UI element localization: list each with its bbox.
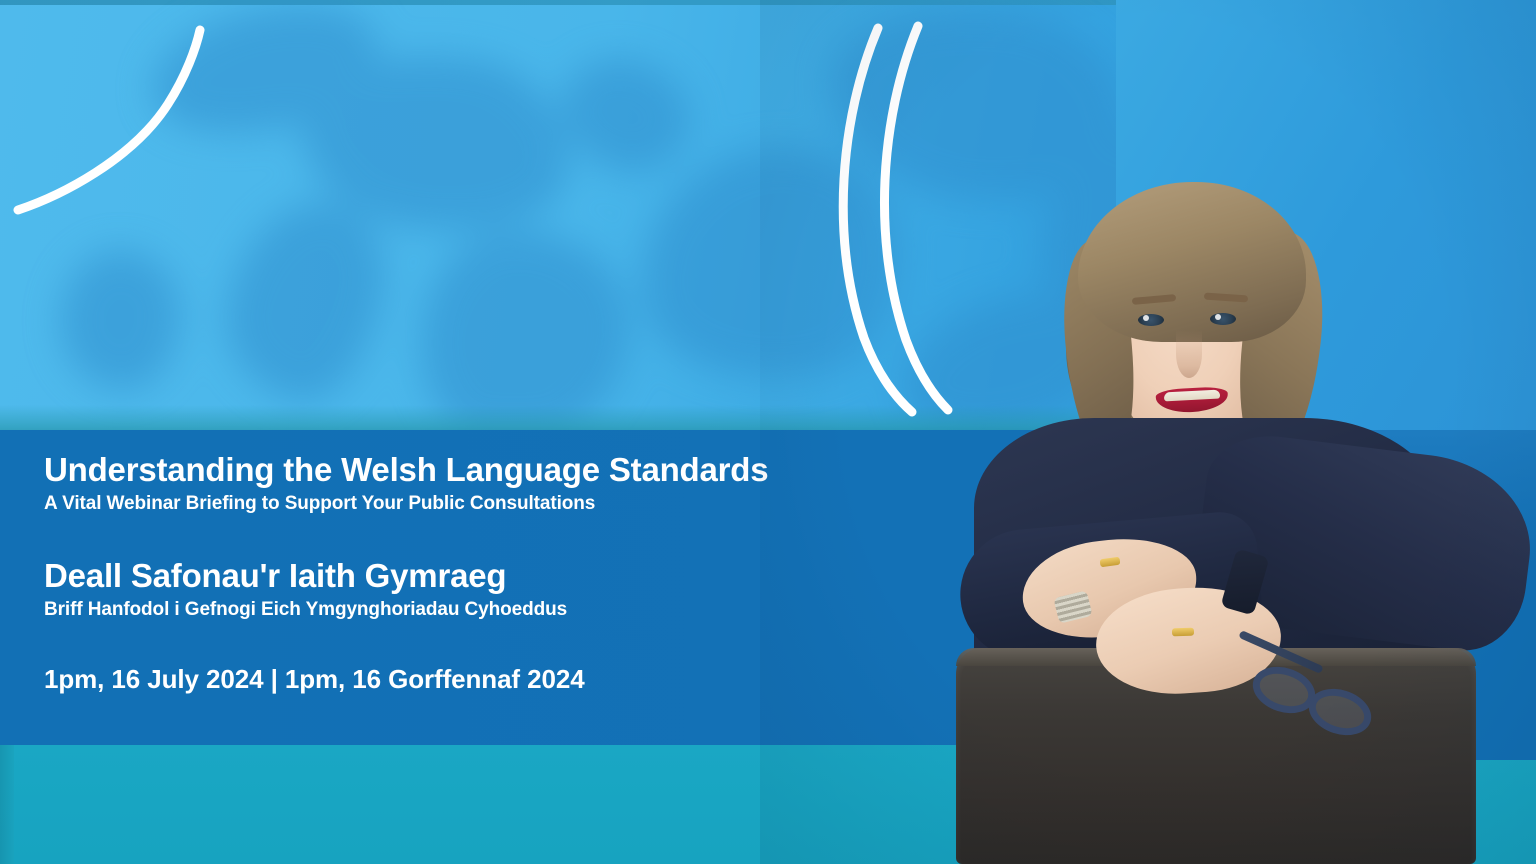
eye-right (1210, 313, 1236, 325)
floor-left-edge (0, 745, 14, 864)
eye-highlight-left (1143, 315, 1149, 321)
ring-lower (1172, 628, 1194, 637)
map-landmass (409, 220, 640, 436)
webinar-banner: Understanding the Welsh Language Standar… (0, 0, 1536, 864)
eye-left (1138, 314, 1164, 326)
map-landmass (545, 41, 705, 189)
nose (1176, 330, 1202, 378)
map-landmass (54, 245, 186, 395)
eye-highlight-right (1215, 314, 1221, 320)
presenter-portrait (760, 0, 1536, 864)
map-landmass (211, 187, 399, 414)
